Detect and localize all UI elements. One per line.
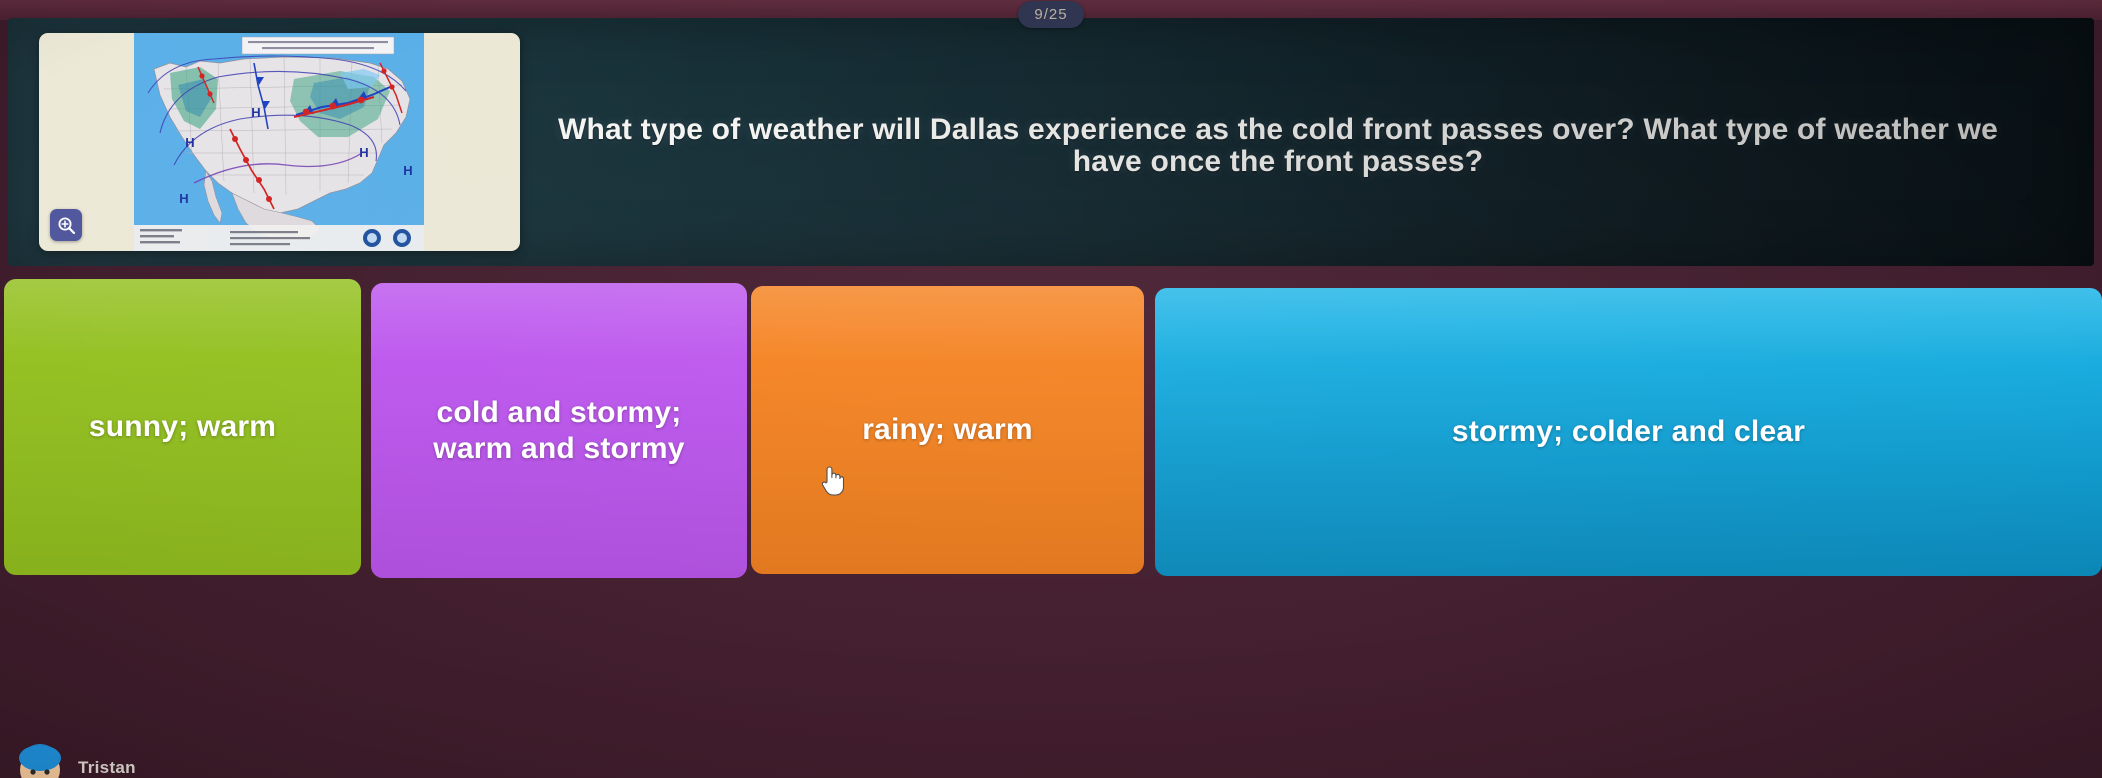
player-avatar-icon[interactable] — [14, 736, 66, 778]
map-high-label: H — [359, 145, 368, 160]
question-text: What type of weather will Dallas experie… — [548, 114, 2008, 178]
question-counter-badge: 9/25 — [1018, 1, 1084, 28]
answer-option-2[interactable]: cold and stormy; warm and stormy — [371, 283, 747, 578]
player-name: Tristan — [78, 758, 136, 778]
answer-options-row: sunny; warm cold and stormy; warm and st… — [0, 277, 2102, 577]
map-high-label: H — [179, 191, 188, 206]
answer-option-4[interactable]: stormy; colder and clear — [1155, 288, 2102, 576]
quiz-screen: H H H H H — [0, 0, 2102, 778]
question-image-card[interactable]: H H H H H — [39, 33, 520, 251]
answer-option-1-label: sunny; warm — [89, 409, 276, 444]
map-high-label: H — [185, 135, 194, 150]
weather-map-image: H H H H H — [134, 33, 424, 251]
answer-option-4-label: stormy; colder and clear — [1452, 414, 1805, 449]
weather-map-graphic: H H H H H — [134, 33, 424, 251]
map-high-label: H — [403, 163, 412, 178]
answer-option-3-label: rainy; warm — [862, 412, 1033, 447]
zoom-image-button[interactable] — [50, 209, 82, 241]
answer-option-3[interactable]: rainy; warm — [751, 286, 1144, 574]
answer-option-2-label: cold and stormy; warm and stormy — [394, 395, 724, 466]
answer-option-1[interactable]: sunny; warm — [4, 279, 361, 575]
map-high-label: H — [251, 105, 260, 120]
magnifier-plus-icon — [57, 216, 76, 235]
question-panel: H H H H H — [8, 18, 2094, 266]
player-footer: Tristan — [0, 722, 2102, 778]
